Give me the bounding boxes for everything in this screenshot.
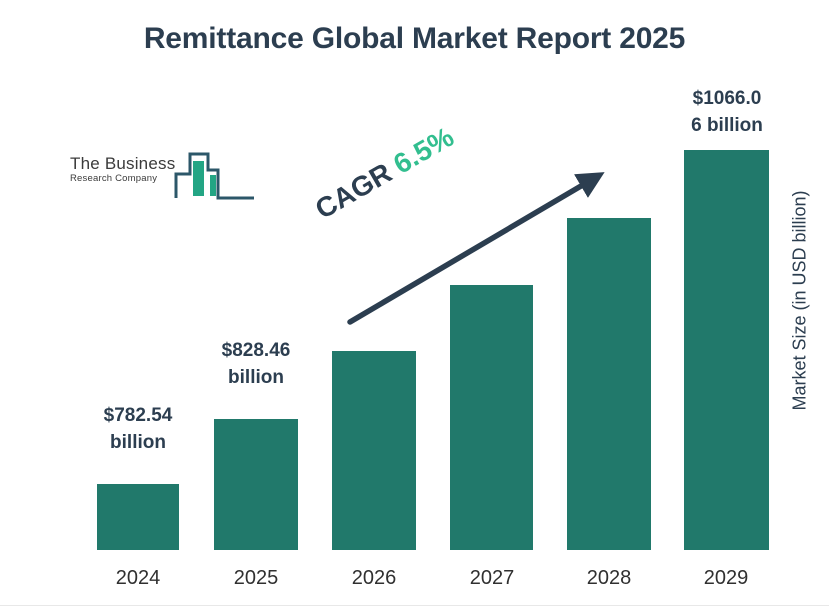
- chart-page: Remittance Global Market Report 2025 The…: [0, 0, 829, 606]
- bar-label-2029-line1: $1066.0: [693, 88, 762, 109]
- bar-2026: [332, 351, 416, 550]
- bar-label-2025-line1: $828.46: [222, 340, 291, 361]
- bar-label-2025-line2: billion: [228, 367, 284, 388]
- bar-chart-plot: $782.54 billion $828.46 billion $1066.0 …: [0, 0, 829, 606]
- bar-label-2024: $782.54 billion: [78, 402, 198, 456]
- bar-label-2024-line2: billion: [110, 432, 166, 453]
- x-tick-2025: 2025: [196, 567, 316, 590]
- bar-2024: [97, 484, 179, 550]
- x-tick-2027: 2027: [432, 567, 552, 590]
- y-axis-title: Market Size (in USD billion): [790, 176, 811, 426]
- bar-2025: [214, 419, 298, 550]
- bar-label-2029-line2: 6 billion: [691, 115, 763, 136]
- bar-label-2024-line1: $782.54: [104, 405, 173, 426]
- bar-2029: [684, 150, 769, 550]
- x-tick-2028: 2028: [549, 567, 669, 590]
- cagr-value: 6.5%: [388, 121, 459, 180]
- bar-label-2025: $828.46 billion: [196, 337, 316, 391]
- x-tick-2024: 2024: [78, 567, 198, 590]
- bar-label-2029: $1066.0 6 billion: [666, 85, 788, 139]
- x-tick-2029: 2029: [666, 567, 786, 590]
- x-tick-2026: 2026: [314, 567, 434, 590]
